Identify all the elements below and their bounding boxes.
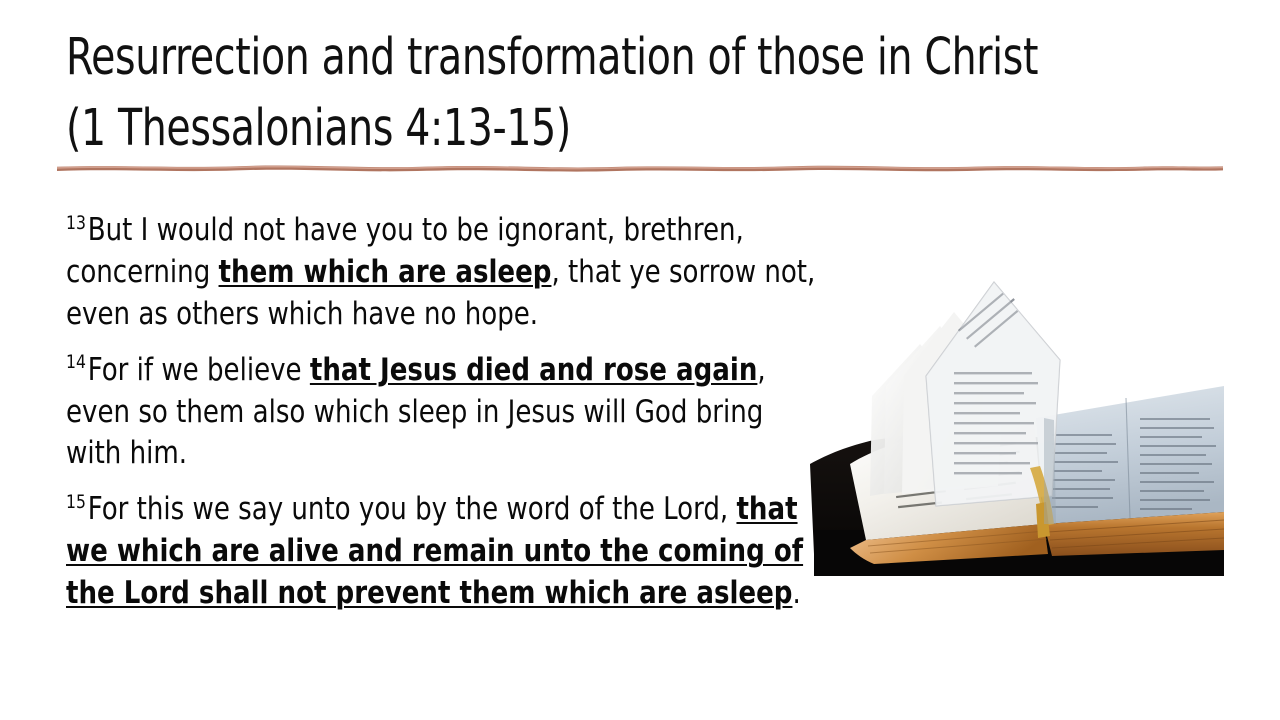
page-title-line-1: Resurrection and transformation of those… [66,22,1055,93]
verse-14: 14For if we believe that Jesus died and … [66,350,817,476]
page-title: Resurrection and transformation of those… [66,22,1216,165]
verse-number-15: 15 [66,491,86,513]
verse-15-part-3: . [792,575,800,611]
verse-14-emphasis: that Jesus died and rose again [310,352,758,388]
verse-15-part-1: For this we say unto you by the word of … [88,491,737,527]
page-title-line-2: (1 Thessalonians 4:13-15) [66,93,1055,164]
verse-number-14: 14 [66,351,86,373]
scripture-body: 13But I would not have you to be ignoran… [66,210,818,615]
verse-13-emphasis: them which are asleep [219,254,552,290]
verse-13: 13But I would not have you to be ignoran… [66,210,817,336]
slide-canvas: Resurrection and transformation of those… [0,0,1280,720]
verse-number-13: 13 [66,212,86,234]
open-bible-photo [808,268,1224,590]
verse-15: 15For this we say unto you by the word o… [66,489,817,615]
verse-14-part-1: For if we believe [88,352,310,388]
brush-stroke-divider [57,160,1223,174]
